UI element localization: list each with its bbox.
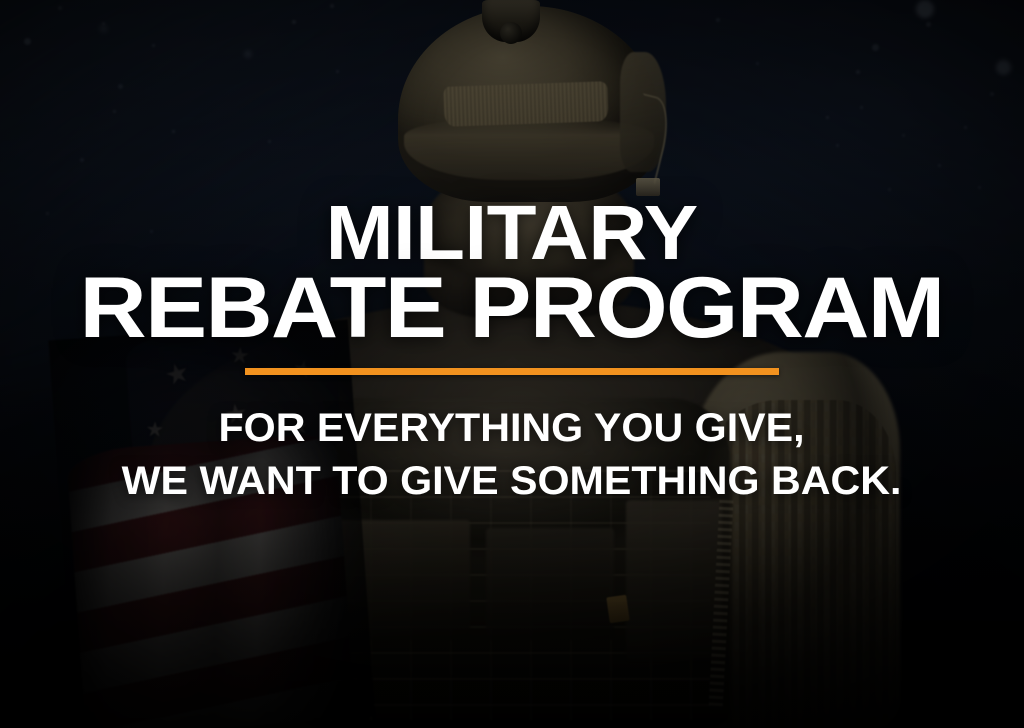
military-rebate-banner: MILITARY REBATE PROGRAM FOR EVERYTHING Y…	[0, 0, 1024, 728]
subheadline-line-2: WE WANT TO GIVE SOMETHING BACK.	[122, 455, 902, 508]
subheadline-line-1: FOR EVERYTHING YOU GIVE,	[219, 406, 805, 450]
banner-content: MILITARY REBATE PROGRAM FOR EVERYTHING Y…	[0, 0, 1024, 728]
page-subtitle: FOR EVERYTHING YOU GIVE, WE WANT TO GIVE…	[122, 402, 902, 508]
headline-line-2: REBATE PROGRAM	[80, 269, 944, 348]
accent-divider	[245, 368, 779, 375]
page-title: MILITARY REBATE PROGRAM	[88, 198, 935, 348]
divider-wrap	[0, 368, 1024, 375]
